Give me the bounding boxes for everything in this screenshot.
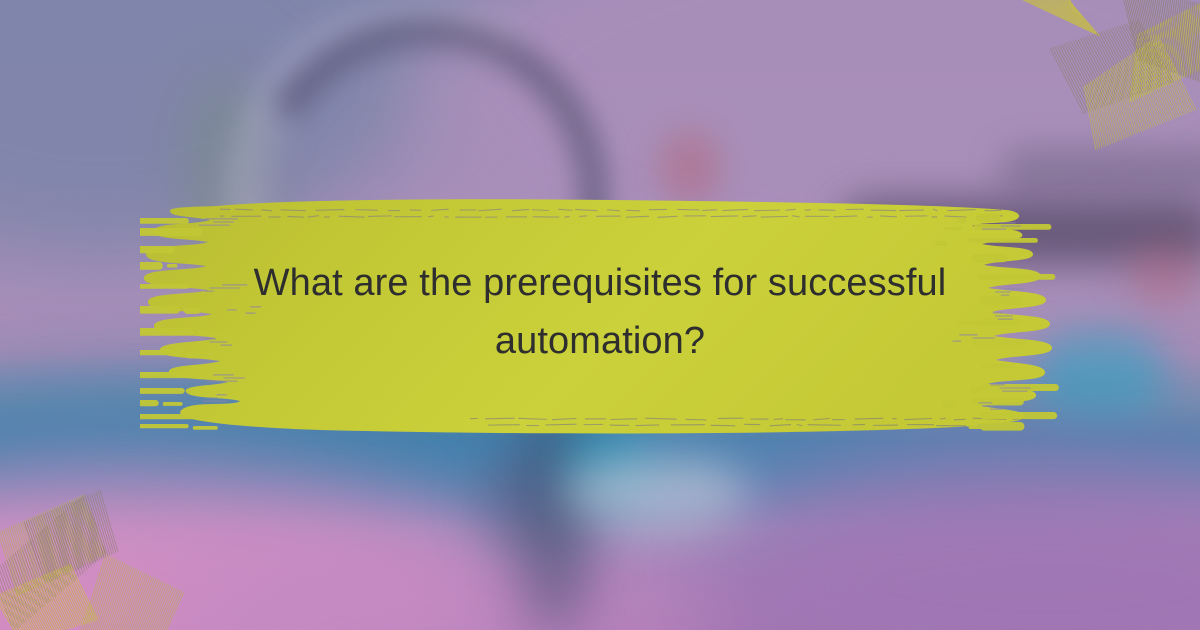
- question-headline: What are the prerequisites for successfu…: [150, 255, 1050, 371]
- background-red-accent-2: [1130, 245, 1200, 305]
- background-pier-far: [1000, 150, 1200, 190]
- question-card: What are the prerequisites for successfu…: [0, 0, 1200, 630]
- background-board-light: [560, 455, 750, 527]
